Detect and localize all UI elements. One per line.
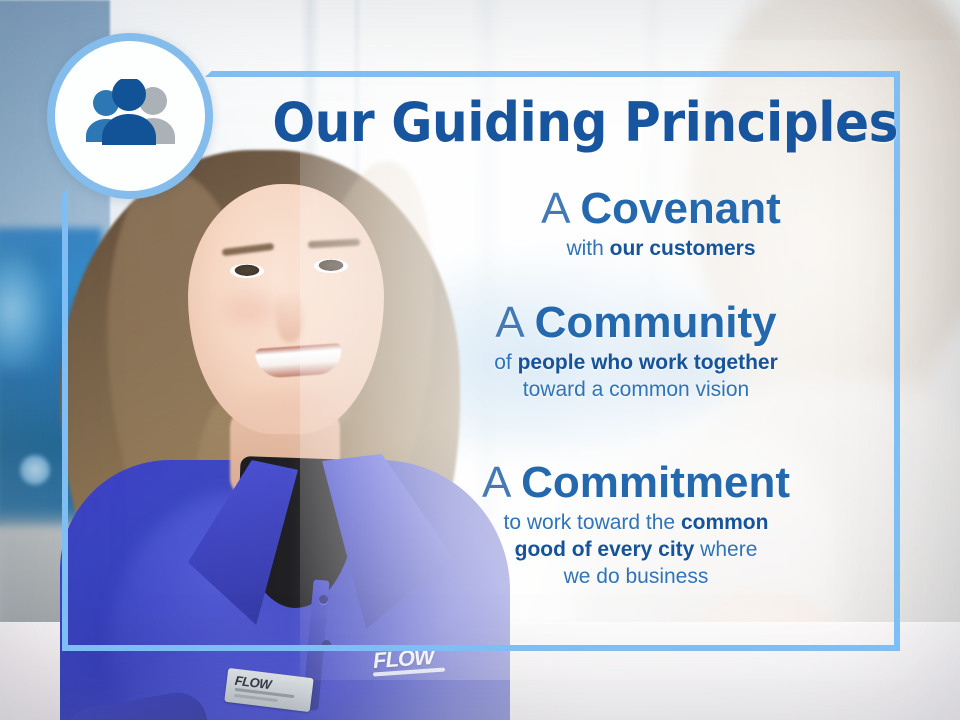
- principle-headline: A Community: [376, 300, 896, 346]
- principle-keyword: Covenant: [580, 184, 780, 233]
- principle-subtext-line: good of every city where: [376, 537, 896, 564]
- principle-headline: A Commitment: [376, 460, 896, 506]
- principle-article: A: [482, 458, 509, 507]
- plain-text: to work toward the: [504, 511, 681, 534]
- frame-left-border: [62, 196, 68, 651]
- principle-keyword: Community: [535, 298, 777, 347]
- principle-community: A Community of people who work togethert…: [376, 300, 896, 404]
- principle-subtext: with our customers: [426, 236, 896, 263]
- frame-top-border: [213, 71, 900, 77]
- principle-headline: A Covenant: [426, 186, 896, 232]
- principle-subtext-line: to work toward the common: [376, 510, 896, 537]
- principle-subtext-line: with our customers: [426, 236, 896, 263]
- emphasis-text: good of every city: [515, 538, 695, 561]
- plain-text: where: [694, 538, 757, 561]
- principle-article: A: [495, 298, 522, 347]
- principle-keyword: Commitment: [521, 458, 790, 507]
- emphasis-text: our customers: [610, 237, 756, 260]
- principle-covenant: A Covenant with our customers: [426, 186, 896, 263]
- page-title: Our Guiding Principles: [63, 96, 898, 150]
- plain-text: with: [566, 237, 609, 260]
- plain-text: we do business: [564, 565, 709, 588]
- frame-bottom-border: [62, 645, 900, 651]
- principle-subtext-line: toward a common vision: [376, 377, 896, 404]
- principle-subtext: to work toward the commongood of every c…: [376, 510, 896, 591]
- emphasis-text: common: [681, 511, 769, 534]
- principle-article: A: [541, 184, 568, 233]
- principle-subtext-line: we do business: [376, 564, 896, 591]
- principle-subtext-line: of people who work together: [376, 350, 896, 377]
- principle-commitment: A Commitment to work toward the commongo…: [376, 460, 896, 590]
- emphasis-text: people who work together: [518, 351, 778, 374]
- banner-stage: FLOW FLOW: [0, 0, 960, 720]
- plain-text: toward a common vision: [523, 378, 749, 401]
- principle-subtext: of people who work togethertoward a comm…: [376, 350, 896, 404]
- plain-text: of: [494, 351, 517, 374]
